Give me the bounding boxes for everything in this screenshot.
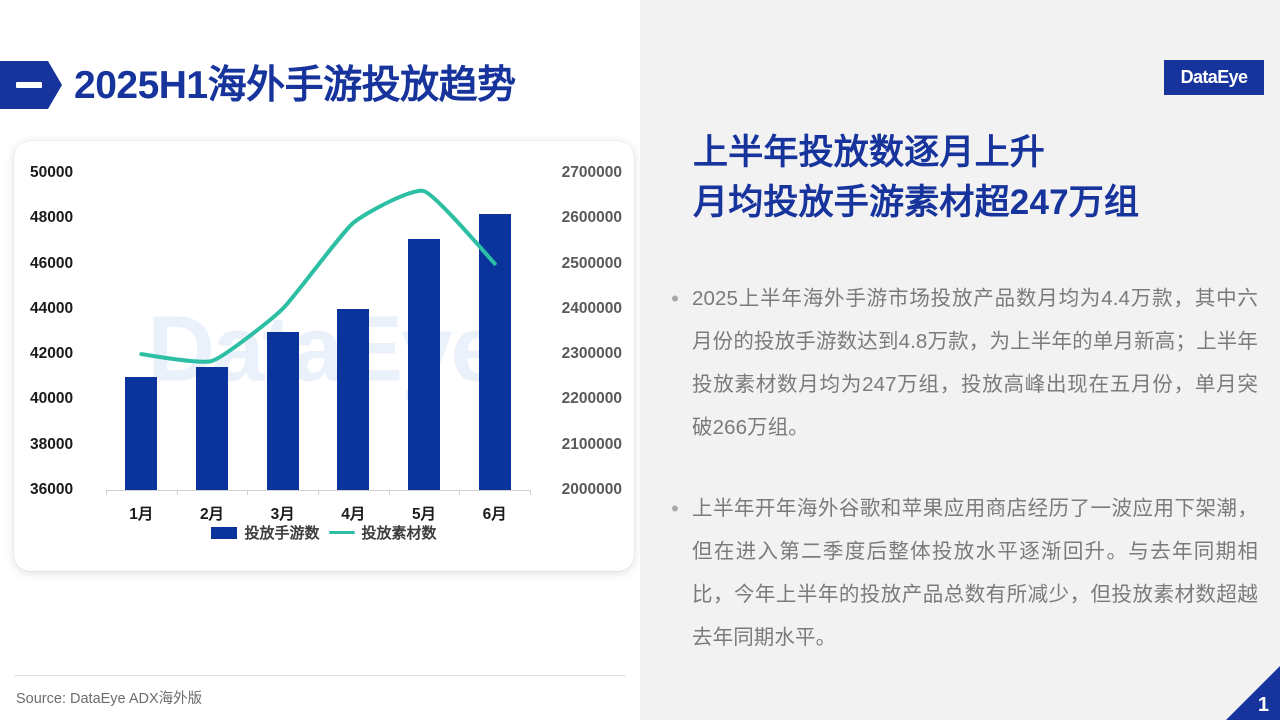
right-panel: DataEye 上半年投放数逐月上升 月均投放手游素材超247万组 • 2025…: [640, 0, 1280, 720]
legend-item-line: 投放素材数: [329, 522, 437, 543]
y-axis-left-tick: 42000: [30, 345, 73, 363]
chart-bar: [196, 367, 228, 490]
y-axis-right-tick: 2200000: [562, 390, 622, 408]
section-marker-badge: [0, 61, 62, 109]
y-axis-left-tick: 46000: [30, 255, 73, 273]
chart-bar: [125, 377, 157, 490]
y-axis-right-tick: 2000000: [562, 481, 622, 499]
chart-bar: [337, 309, 369, 490]
x-axis-category-label: 2月: [200, 502, 224, 524]
y-axis-left-tick: 40000: [30, 390, 73, 408]
chart-bar: [408, 239, 440, 490]
y-axis-left-tick: 48000: [30, 209, 73, 227]
x-axis-category-label: 3月: [271, 502, 295, 524]
y-axis-right-tick: 2400000: [562, 300, 622, 318]
dataeye-logo: DataEye: [1164, 60, 1264, 95]
legend-bar-swatch-icon: [211, 527, 237, 539]
chart-bar: [479, 214, 511, 490]
section-marker-dash-icon: [16, 82, 42, 88]
list-item: • 上半年开年海外谷歌和苹果应用商店经历了一波应用下架潮，但在进入第二季度后整体…: [658, 487, 1258, 659]
legend-label-bars: 投放手游数: [244, 522, 319, 543]
bullet-dot-icon: •: [658, 487, 692, 659]
legend-item-bars: 投放手游数: [211, 522, 319, 543]
x-axis-tick: [177, 490, 178, 495]
bullet-dot-icon: •: [658, 277, 692, 449]
y-axis-left-tick: 38000: [30, 436, 73, 454]
chart-line-path: [141, 191, 494, 362]
y-axis-right-tick: 2300000: [562, 345, 622, 363]
y-axis-right-tick: 2100000: [562, 436, 622, 454]
source-note: Source: DataEye ADX海外版: [16, 687, 202, 708]
bullet-list: • 2025上半年海外手游市场投放产品数月均为4.4万款，其中六月份的投放手游数…: [658, 277, 1258, 697]
chart-legend: 投放手游数 投放素材数: [14, 522, 634, 543]
x-axis-tick: [318, 490, 319, 495]
page-number: 1: [1258, 694, 1269, 717]
chart-plot-area: 3600038000400004200044000460004800050000…: [14, 141, 634, 571]
x-axis-category-label: 5月: [412, 502, 436, 524]
left-panel: 2025H1海外手游投放趋势 DataEye 36000380004000042…: [0, 0, 640, 720]
x-axis-tick: [459, 490, 460, 495]
list-item: • 2025上半年海外手游市场投放产品数月均为4.4万款，其中六月份的投放手游数…: [658, 277, 1258, 449]
x-axis-category-label: 6月: [483, 502, 507, 524]
y-axis-right-tick: 2600000: [562, 209, 622, 227]
slide: 2025H1海外手游投放趋势 DataEye 36000380004000042…: [0, 0, 1280, 720]
chart-line-series: [14, 141, 634, 571]
headline: 上半年投放数逐月上升 月均投放手游素材超247万组: [693, 128, 1139, 228]
logo-label: DataEye: [1181, 67, 1248, 88]
chart-card: DataEye 36000380004000042000440004600048…: [14, 141, 634, 571]
page-title: 2025H1海外手游投放趋势: [74, 66, 516, 105]
y-axis-left-tick: 50000: [30, 164, 73, 182]
x-axis-tick: [389, 490, 390, 495]
y-axis-left-tick: 44000: [30, 300, 73, 318]
x-axis-tick: [106, 490, 107, 495]
x-axis-tick: [247, 490, 248, 495]
slide-title-row: 2025H1海外手游投放趋势: [0, 57, 516, 113]
legend-label-line: 投放素材数: [362, 522, 437, 543]
headline-line-2: 月均投放手游素材超247万组: [693, 178, 1139, 228]
y-axis-right-tick: 2500000: [562, 255, 622, 273]
x-axis-category-label: 4月: [341, 502, 365, 524]
headline-line-1: 上半年投放数逐月上升: [693, 128, 1139, 178]
y-axis-left-tick: 36000: [30, 481, 73, 499]
legend-line-swatch-icon: [329, 531, 355, 535]
x-axis-category-label: 1月: [129, 502, 153, 524]
y-axis-right-tick: 2700000: [562, 164, 622, 182]
source-divider: [14, 675, 626, 676]
bullet-text: 上半年开年海外谷歌和苹果应用商店经历了一波应用下架潮，但在进入第二季度后整体投放…: [692, 487, 1258, 659]
chart-bar: [267, 332, 299, 491]
bullet-text: 2025上半年海外手游市场投放产品数月均为4.4万款，其中六月份的投放手游数达到…: [692, 277, 1258, 449]
x-axis-tick: [530, 490, 531, 495]
